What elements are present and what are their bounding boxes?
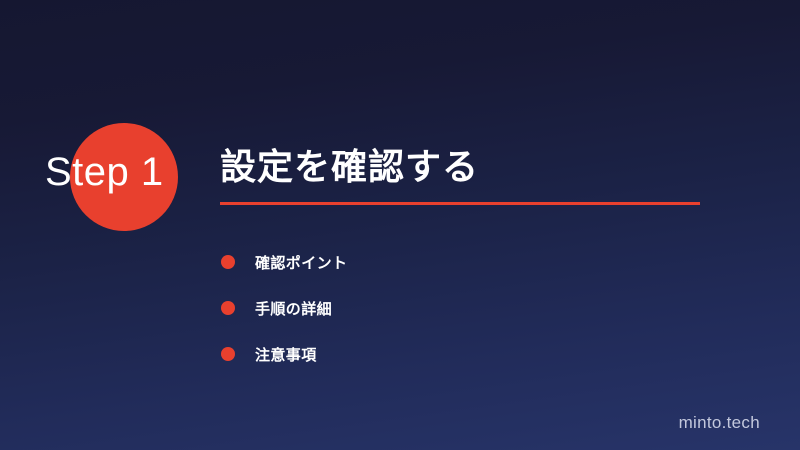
list-item-label: 手順の詳細 — [255, 298, 332, 319]
title-block: 設定を確認する — [220, 146, 700, 205]
list-item: 注意事項 — [221, 331, 347, 377]
list-item-label: 確認ポイント — [255, 252, 347, 273]
title-underline-rule — [220, 202, 700, 205]
bullet-dot-icon — [221, 301, 235, 315]
bullet-dot-icon — [221, 347, 235, 361]
slide-canvas: Step 1 設定を確認する 確認ポイント 手順の詳細 注意事項 minto.t… — [0, 0, 800, 450]
list-item: 確認ポイント — [221, 239, 347, 285]
list-item: 手順の詳細 — [221, 285, 347, 331]
page-title: 設定を確認する — [220, 146, 700, 187]
bullet-dot-icon — [221, 255, 235, 269]
bullet-list: 確認ポイント 手順の詳細 注意事項 — [221, 239, 347, 377]
list-item-label: 注意事項 — [255, 344, 317, 365]
footer-brand-label: minto.tech — [679, 413, 760, 433]
step-number-label: Step 1 — [45, 152, 164, 192]
